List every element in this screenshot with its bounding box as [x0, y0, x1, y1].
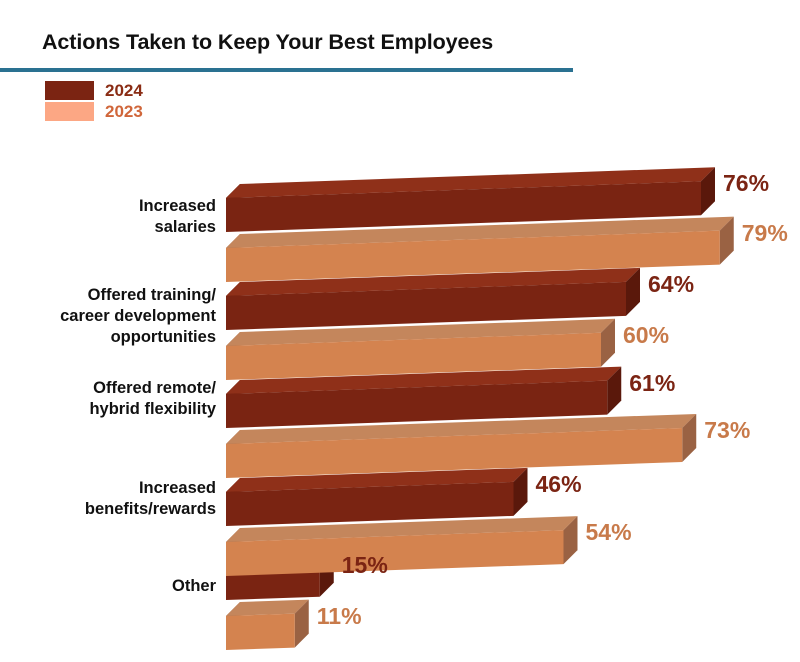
- category-label-0: Increasedsalaries: [8, 196, 216, 238]
- value-label-2024-4: 15%: [342, 552, 388, 579]
- bar-2023-4[interactable]: [226, 600, 309, 650]
- category-label-line: salaries: [8, 217, 216, 238]
- category-label-1: Offered training/career developmentoppor…: [8, 285, 216, 348]
- category-label-3: Increasedbenefits/rewards: [8, 478, 216, 520]
- bar-2024-3[interactable]: [226, 468, 528, 526]
- value-label-2024-2: 61%: [629, 370, 675, 397]
- chart-container: Actions Taken to Keep Your Best Employee…: [0, 0, 800, 662]
- category-label-2: Offered remote/hybrid flexibility: [8, 378, 216, 420]
- category-label-line: Other: [8, 576, 216, 597]
- value-label-2023-2: 73%: [704, 417, 750, 444]
- value-label-2024-3: 46%: [536, 471, 582, 498]
- category-label-line: Increased: [8, 478, 216, 499]
- value-label-2023-0: 79%: [742, 220, 788, 247]
- category-label-line: Offered training/: [8, 285, 216, 306]
- value-label-2024-1: 64%: [648, 271, 694, 298]
- category-label-line: benefits/rewards: [8, 499, 216, 520]
- category-label-line: career development: [8, 306, 216, 327]
- category-label-4: Other: [8, 576, 216, 597]
- value-label-2023-1: 60%: [623, 322, 669, 349]
- category-label-line: hybrid flexibility: [8, 399, 216, 420]
- category-label-line: Increased: [8, 196, 216, 217]
- category-label-line: Offered remote/: [8, 378, 216, 399]
- value-label-2023-3: 54%: [586, 519, 632, 546]
- category-label-line: opportunities: [8, 327, 216, 348]
- bar-2023-3[interactable]: [226, 516, 578, 576]
- value-label-2024-0: 76%: [723, 170, 769, 197]
- value-label-2023-4: 11%: [317, 603, 362, 630]
